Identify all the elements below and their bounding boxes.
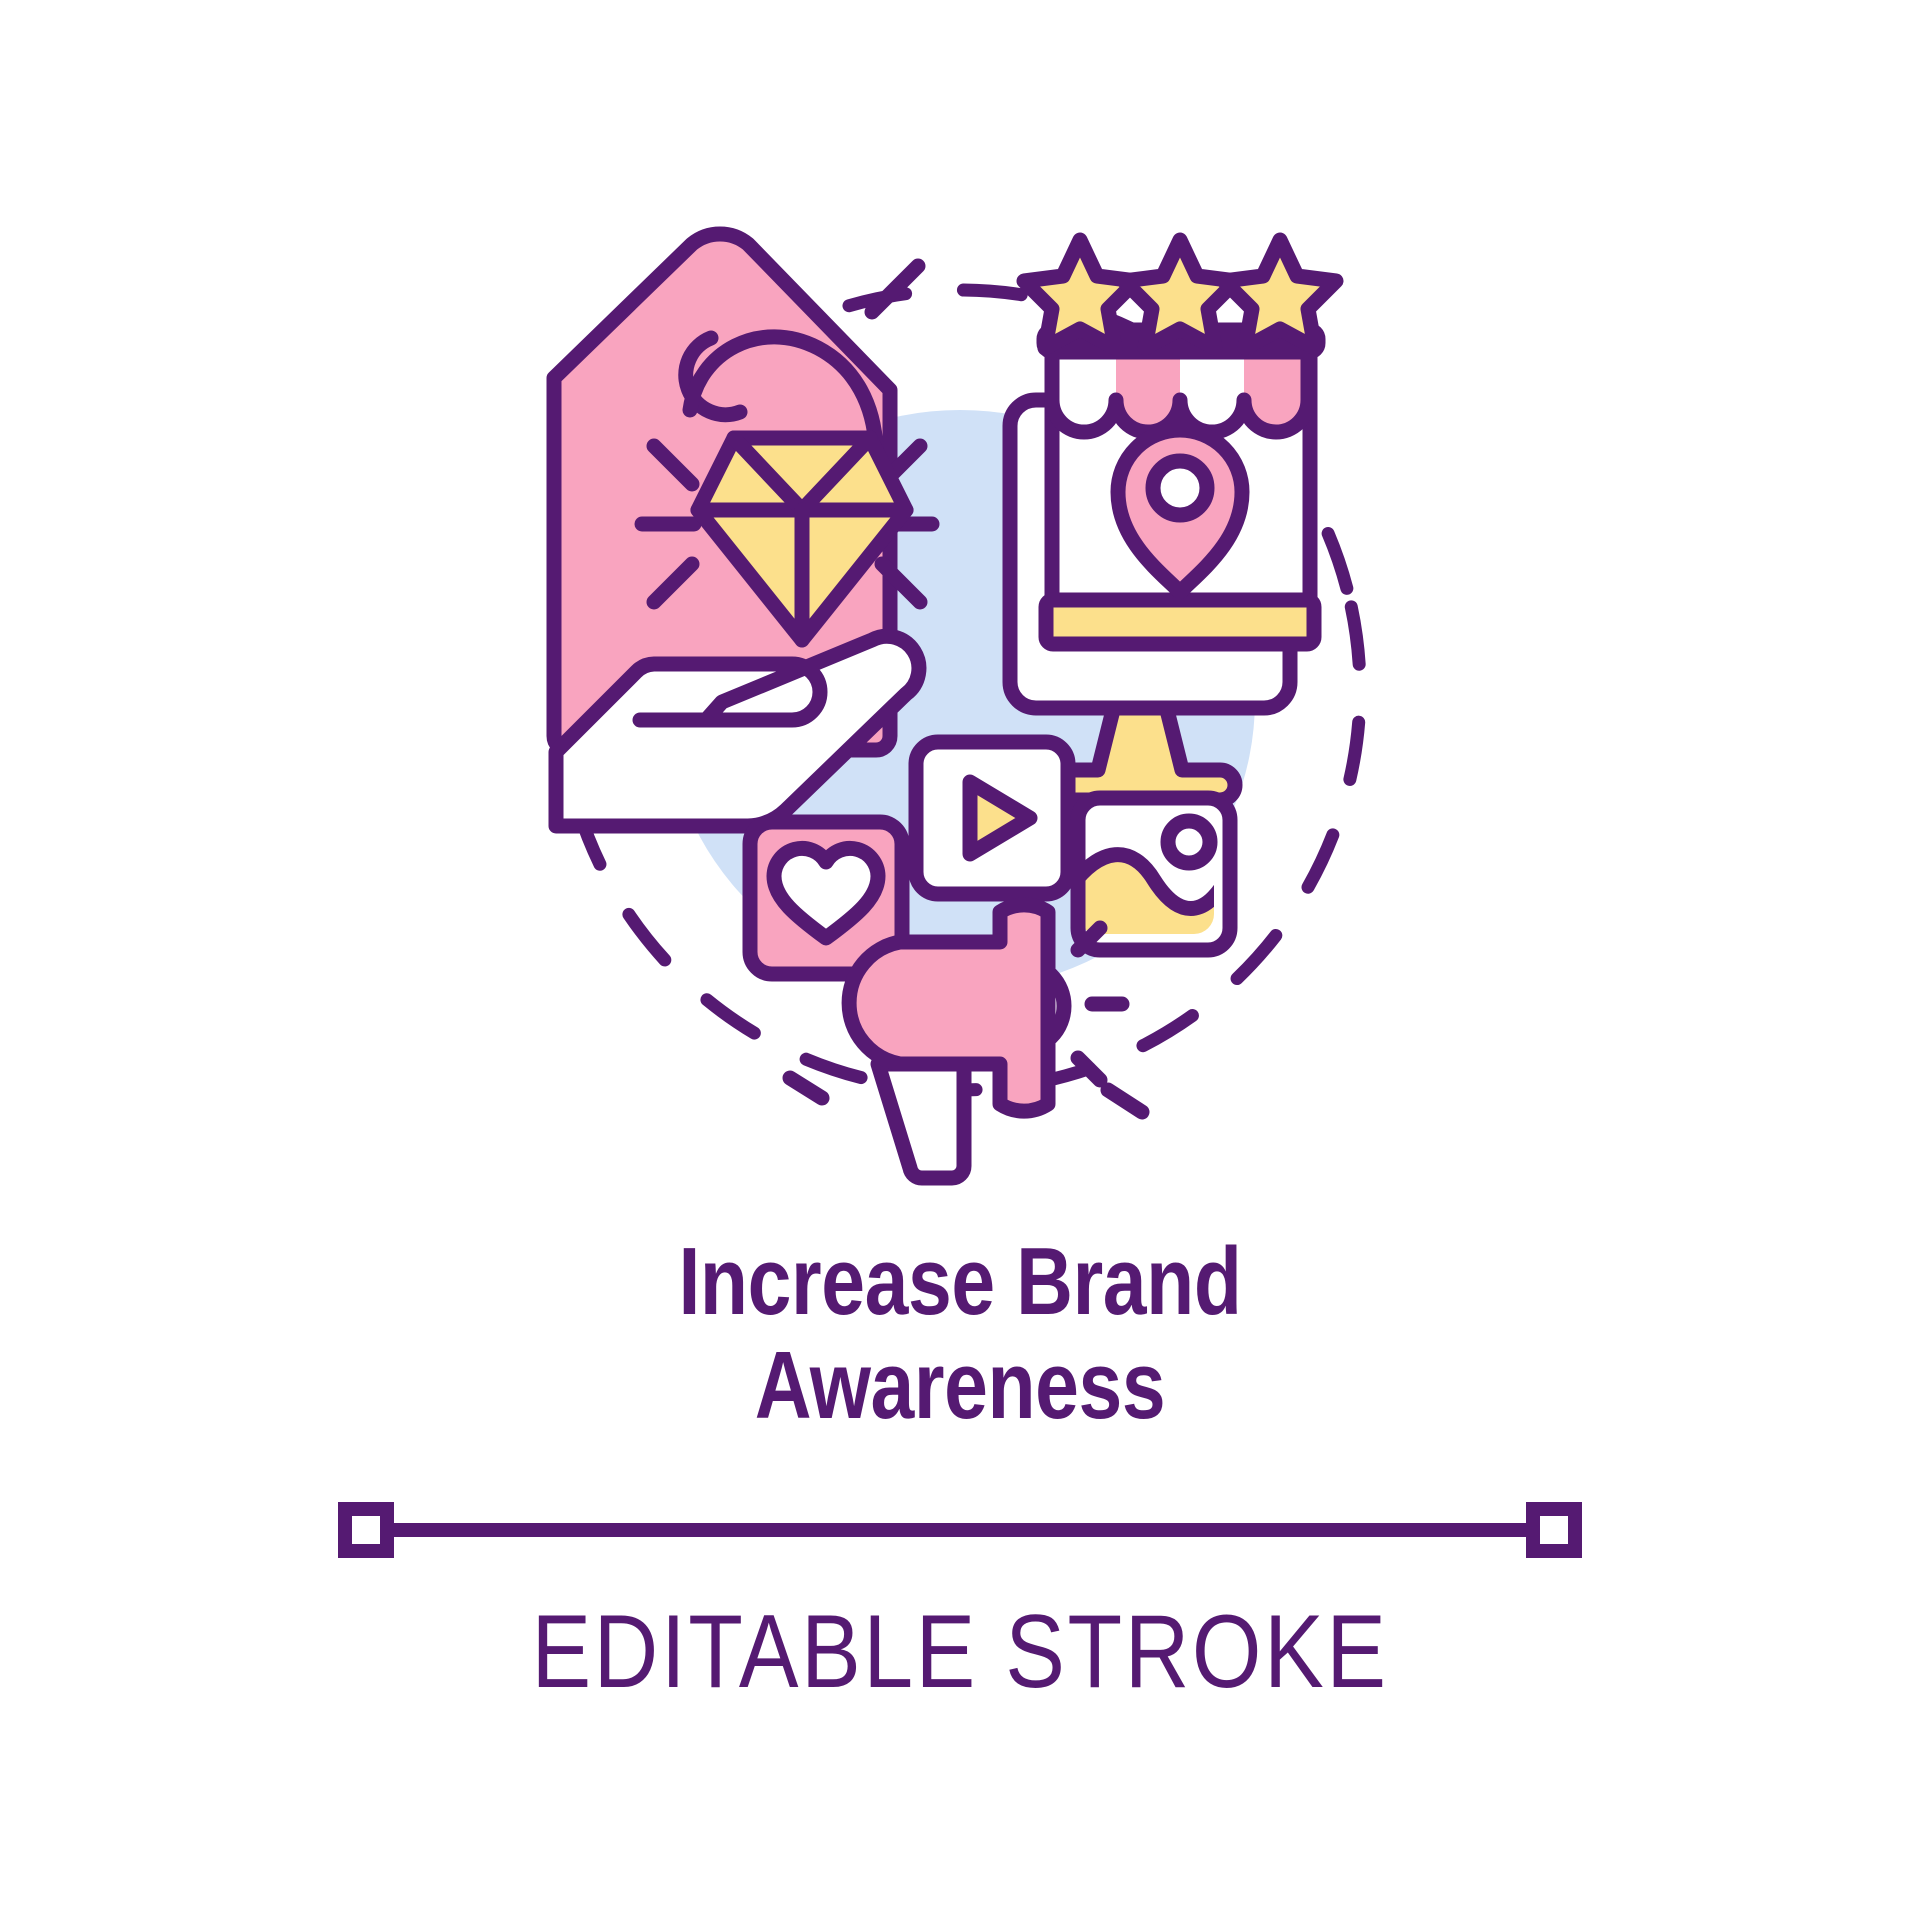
title-line-1: Increase Brand <box>173 1230 1747 1334</box>
star-3 <box>1224 240 1336 348</box>
brand-awareness-illustration <box>0 0 1920 1230</box>
awning <box>1044 330 1318 432</box>
concept-icon-page: Increase Brand Awareness EDITABLE STROKE <box>0 0 1920 1920</box>
image-sun-icon <box>1168 821 1210 863</box>
sparkle-ray-top <box>872 266 918 312</box>
monitor-bottom-bar <box>1046 600 1314 644</box>
stroke-handle-right[interactable] <box>1533 1509 1575 1551</box>
megaphone-handle <box>878 1064 964 1178</box>
editable-stroke-footer: EDITABLE STROKE <box>0 1495 1920 1712</box>
title-line-2: Awareness <box>173 1334 1747 1438</box>
star-1 <box>1024 240 1136 348</box>
stroke-handle-left[interactable] <box>345 1509 387 1551</box>
stroke-width-indicator <box>335 1495 1585 1565</box>
star-2 <box>1124 240 1236 348</box>
editable-stroke-label: EDITABLE STROKE <box>134 1593 1785 1712</box>
play-tile <box>916 742 1068 894</box>
concept-title: Increase Brand Awareness <box>0 1230 1920 1437</box>
rating-stars <box>1024 240 1336 348</box>
